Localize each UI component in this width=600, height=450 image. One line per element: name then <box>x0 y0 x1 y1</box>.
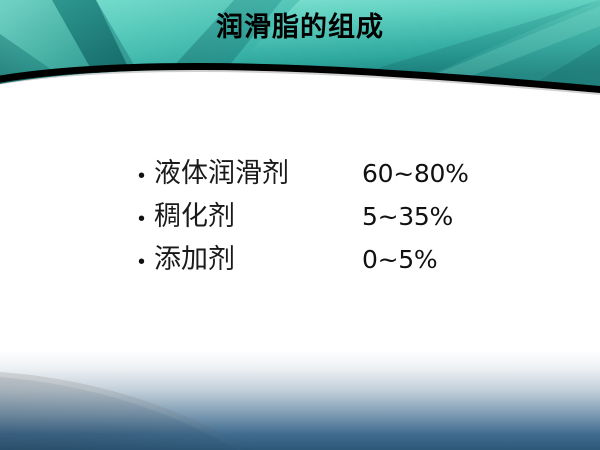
list-item: • 添加剂 0~5% <box>138 238 558 281</box>
bullet-label: 稠化剂 <box>154 195 362 238</box>
bullet-value: 60~80% <box>362 152 469 195</box>
bullet-list: • 液体润滑剂 60~80% • 稠化剂 5~35% • 添加剂 0~5% <box>138 152 558 281</box>
page-title: 润滑脂的组成 <box>0 9 600 47</box>
slide-canvas: 润滑脂的组成 • 液体润滑剂 60~80% • 稠化剂 5~35% • 添加剂 … <box>0 0 600 450</box>
bullet-label: 添加剂 <box>154 238 362 281</box>
bullet-dot-icon: • <box>138 198 154 241</box>
bullet-dot-icon: • <box>138 155 154 198</box>
list-item: • 液体润滑剂 60~80% <box>138 152 558 195</box>
bullet-dot-icon: • <box>138 241 154 284</box>
list-item: • 稠化剂 5~35% <box>138 195 558 238</box>
bullet-value: 5~35% <box>362 195 453 238</box>
bullet-value: 0~5% <box>362 238 437 281</box>
bullet-label: 液体润滑剂 <box>154 152 362 195</box>
